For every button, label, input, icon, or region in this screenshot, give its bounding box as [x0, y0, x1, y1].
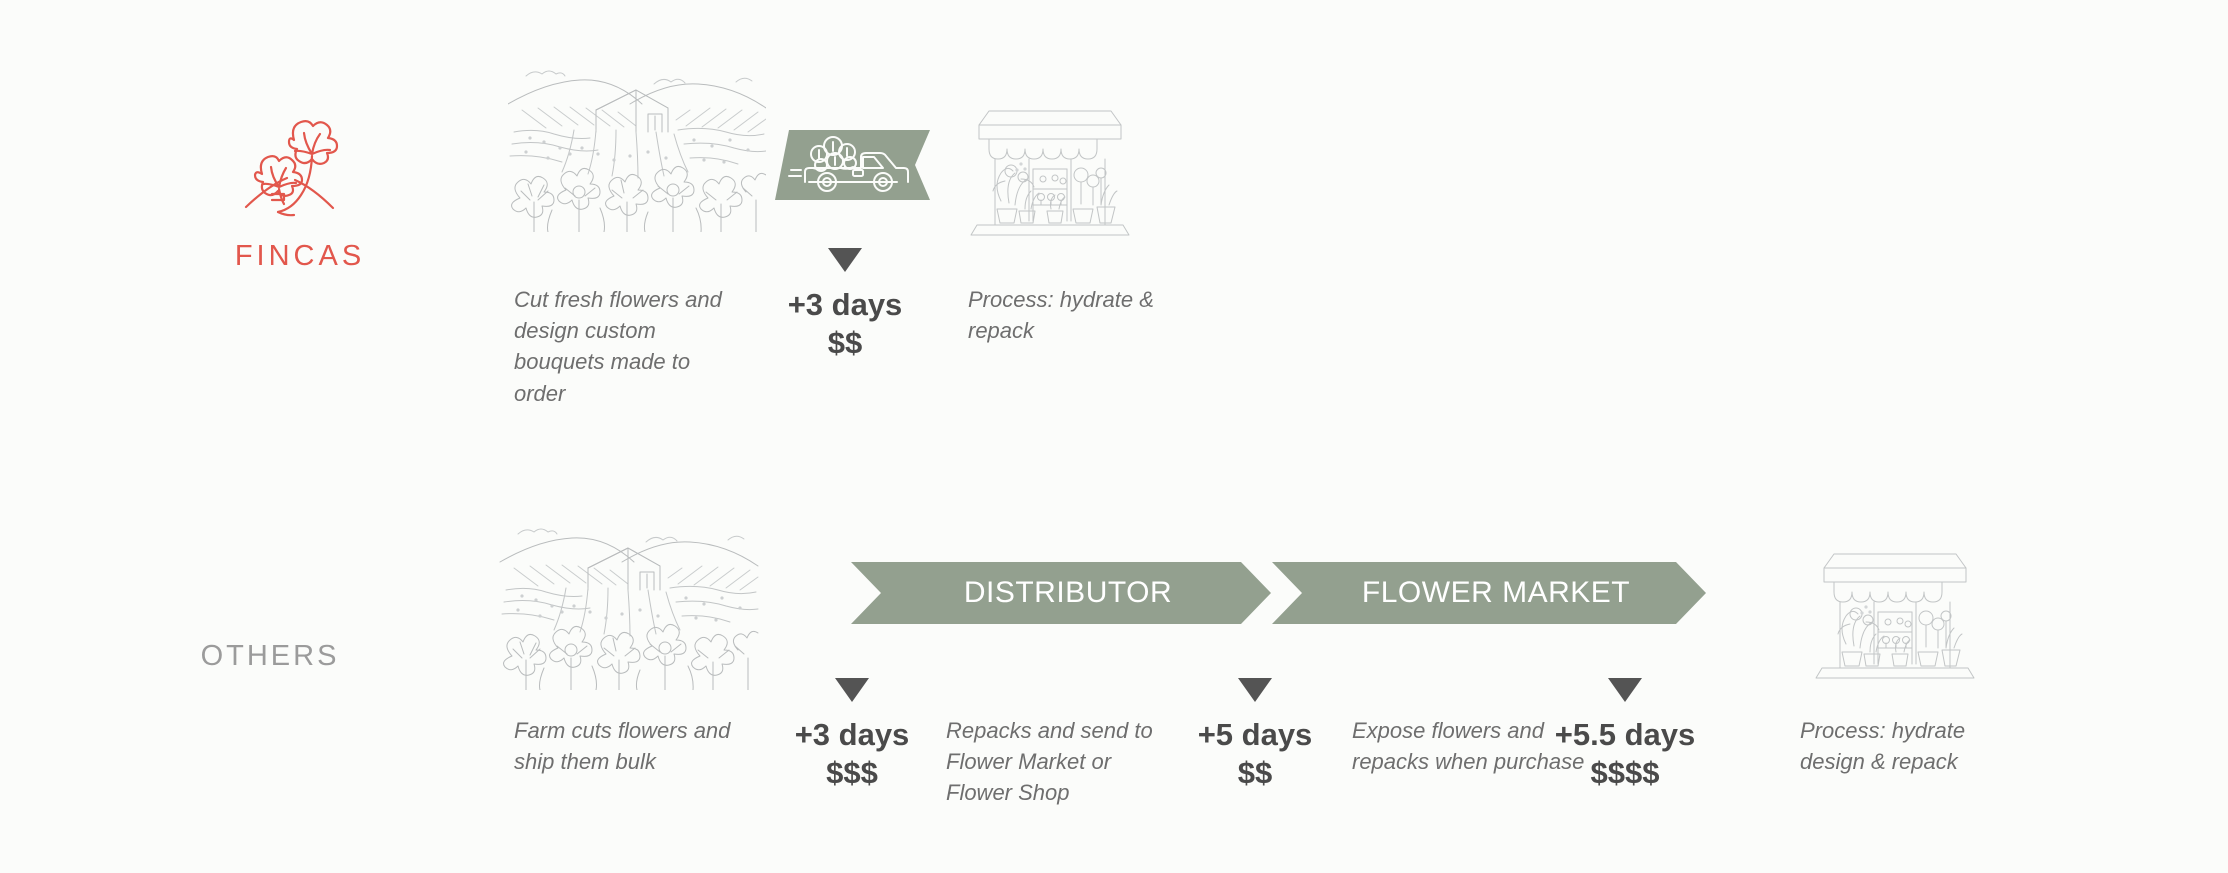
transit-cost-label: $$$ [782, 754, 922, 792]
flower-shop-storefront-icon-2 [1800, 528, 1990, 683]
transit-days-label: +5 days [1185, 716, 1325, 754]
down-triangle-icon [1238, 678, 1272, 702]
others-row-label: OTHERS [150, 640, 390, 673]
stage-banner-flower-market[interactable]: FLOWER MARKET [1272, 562, 1706, 624]
others-farm-caption: Farm cuts flowers and ship them bulk [514, 715, 744, 777]
others-shop-caption: Process: hydrate design & repack [1800, 715, 2020, 777]
transit-marker-others-2: +5 days $$ [1185, 678, 1325, 792]
transit-days-label: +3 days [775, 286, 915, 324]
flower-shop-storefront-icon [955, 85, 1145, 240]
down-triangle-icon [828, 248, 862, 272]
down-triangle-icon [835, 678, 869, 702]
others-distributor-caption: Repacks and send to Flower Market or Flo… [946, 715, 1176, 809]
pickup-truck-with-flowers-icon [775, 130, 930, 200]
fincas-logo-icon [232, 112, 362, 227]
others-flower-market-caption: Expose flowers and repacks when purchase [1352, 715, 1592, 777]
flower-farm-field-with-barn-icon [508, 60, 766, 232]
transit-days-label: +3 days [782, 716, 922, 754]
fincas-shop-caption: Process: hydrate & repack [968, 284, 1188, 346]
stage-banner-distributor[interactable]: DISTRIBUTOR [851, 562, 1271, 624]
down-triangle-icon [1608, 678, 1642, 702]
transit-marker-fincas: +3 days $$ [775, 248, 915, 362]
transit-marker-others-1: +3 days $$$ [782, 678, 922, 792]
supply-chain-comparison-diagram: FINCAS [0, 0, 2228, 873]
stage-banner-flower-market-label: FLOWER MARKET [1272, 562, 1706, 624]
flower-farm-field-with-barn-icon-2 [495, 518, 763, 690]
fincas-farm-caption: Cut fresh flowers and design custom bouq… [514, 284, 742, 409]
brand-name-label: FINCAS [180, 240, 420, 273]
transit-cost-label: $$ [775, 324, 915, 362]
transit-cost-label: $$ [1185, 754, 1325, 792]
stage-banner-distributor-label: DISTRIBUTOR [851, 562, 1271, 624]
